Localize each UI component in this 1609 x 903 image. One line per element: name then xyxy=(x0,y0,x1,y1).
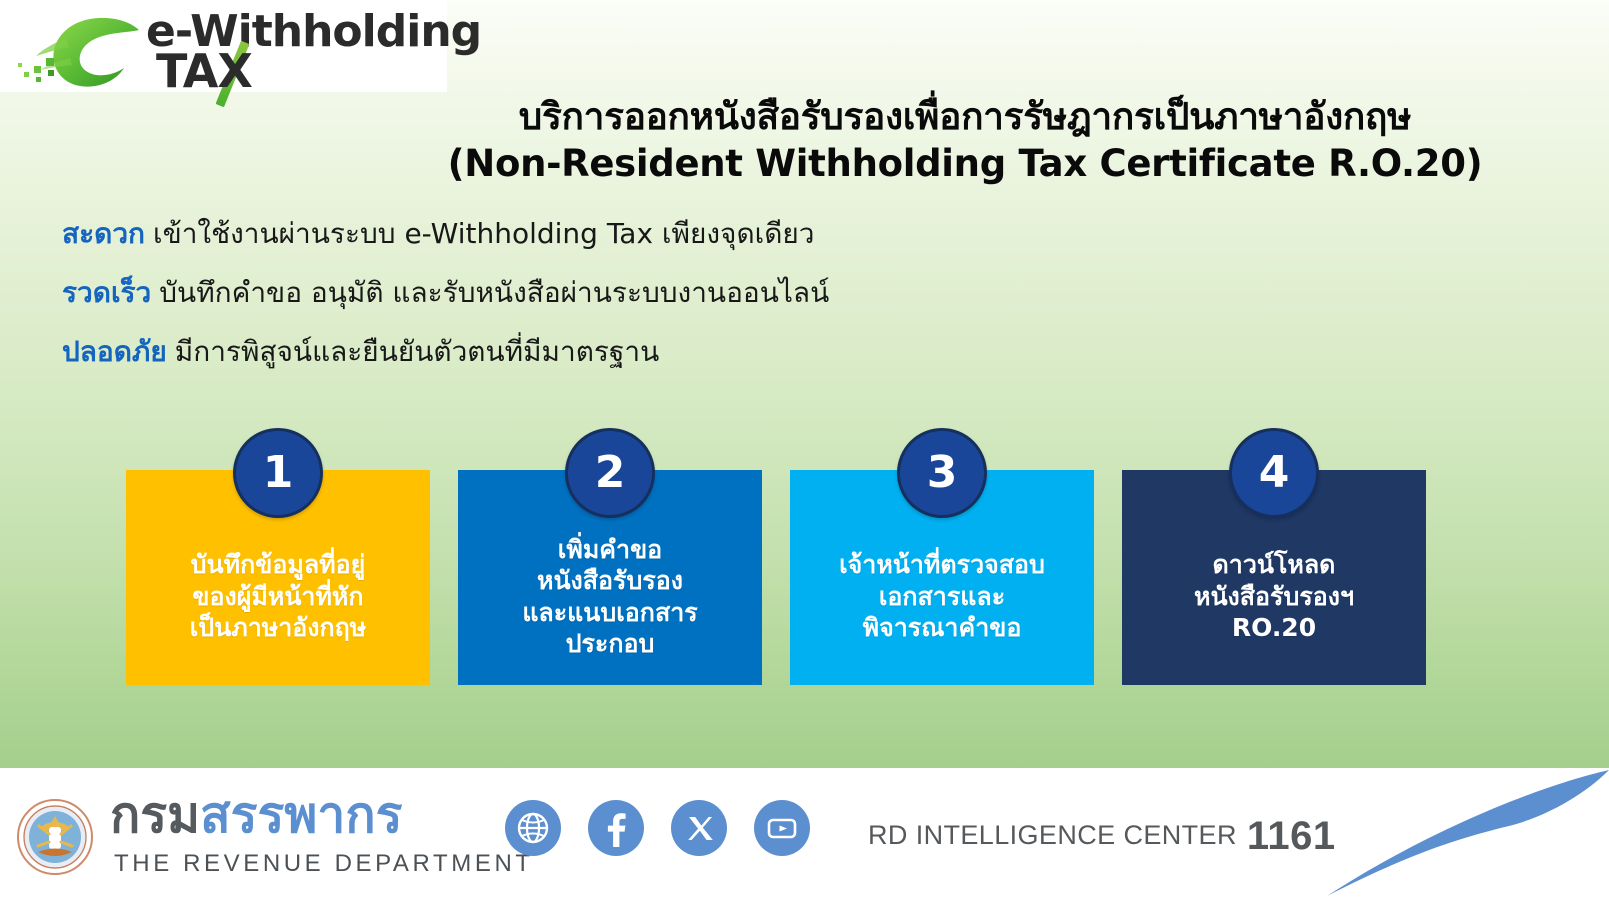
page-title: บริการออกหนังสือรับรองเพื่อการรัษฎากรเป็… xyxy=(330,96,1600,186)
benefit-lead: ปลอดภัย xyxy=(62,335,167,368)
benefit-item: รวดเร็วบันทึกคำขอ อนุมัติ และรับหนังสือผ… xyxy=(62,275,1362,310)
contact-center: RD INTELLIGENCE CENTER1161 xyxy=(868,814,1336,859)
globe-glyph xyxy=(513,808,553,848)
benefit-lead: รวดเร็ว xyxy=(62,276,151,309)
step-number-1: 1 xyxy=(233,428,323,518)
department-name-english: THE REVENUE DEPARTMENT xyxy=(114,850,534,878)
logo-pixel-dots-icon xyxy=(18,56,64,86)
title-thai: บริการออกหนังสือรับรองเพื่อการรัษฎากรเป็… xyxy=(330,96,1600,139)
benefit-text: บันทึกคำขอ อนุมัติ และรับหนังสือผ่านระบบ… xyxy=(159,276,829,309)
step-card-3-label: เจ้าหน้าที่ตรวจสอบ เอกสารและ พิจารณาคำขอ xyxy=(839,549,1045,644)
youtube-icon[interactable] xyxy=(754,800,810,856)
benefit-item: ปลอดภัยมีการพิสูจน์และยืนยันตัวตนที่มีมา… xyxy=(62,334,1362,369)
step-number-3: 3 xyxy=(897,428,987,518)
x-twitter-icon[interactable] xyxy=(671,800,727,856)
title-english: (Non-Resident Withholding Tax Certificat… xyxy=(330,143,1600,186)
benefit-lead: สะดวก xyxy=(62,217,145,250)
facebook-icon[interactable] xyxy=(588,800,644,856)
benefits-list: สะดวกเข้าใช้งานผ่านระบบ e-Withholding Ta… xyxy=(62,216,1362,393)
logo-secondary-text: TAX xyxy=(156,48,252,94)
contact-center-label: RD INTELLIGENCE CENTER xyxy=(868,820,1237,850)
step-card-3: เจ้าหน้าที่ตรวจสอบ เอกสารและ พิจารณาคำขอ… xyxy=(790,470,1094,685)
step-number-2: 2 xyxy=(565,428,655,518)
x-glyph xyxy=(679,808,719,848)
step-card-1: บันทึกข้อมูลที่อยู่ ของผู้มีหน้าที่หัก เ… xyxy=(126,470,430,685)
step-number-4: 4 xyxy=(1229,428,1319,518)
social-links xyxy=(505,800,810,856)
benefit-item: สะดวกเข้าใช้งานผ่านระบบ e-Withholding Ta… xyxy=(62,216,1362,251)
department-name-thai: กรมสรรพากร xyxy=(110,790,403,840)
youtube-glyph xyxy=(762,808,802,848)
facebook-glyph xyxy=(596,808,636,848)
department-name-thai-part2: สรรพากร xyxy=(200,786,402,844)
step-card-2-label: เพิ่มคำขอ หนังสือรับรอง และแนบเอกสาร ประ… xyxy=(522,534,697,660)
process-steps: บันทึกข้อมูลที่อยู่ ของผู้มีหน้าที่หัก เ… xyxy=(0,420,1609,700)
step-card-2: เพิ่มคำขอ หนังสือรับรอง และแนบเอกสาร ประ… xyxy=(458,470,762,685)
step-card-1-label: บันทึกข้อมูลที่อยู่ ของผู้มีหน้าที่หัก เ… xyxy=(190,549,367,644)
infographic-poster: e-Withholding TAX บริการออกหนังสือรับรอง… xyxy=(0,0,1609,903)
benefit-text: เข้าใช้งานผ่านระบบ e-Withholding Tax เพี… xyxy=(153,217,815,250)
decorative-swoosh-icon xyxy=(1309,768,1609,903)
department-name-thai-part1: กรม xyxy=(110,786,200,844)
revenue-department-seal-icon xyxy=(16,798,94,876)
footer-bar: กรมสรรพากร THE REVENUE DEPARTMENT xyxy=(0,768,1609,903)
logo-plate: e-Withholding TAX xyxy=(0,0,447,92)
e-withholding-tax-logo: e-Withholding TAX xyxy=(18,4,448,94)
website-globe-icon[interactable] xyxy=(505,800,561,856)
step-card-4-label: ดาวน์โหลด หนังสือรับรองฯ RO.20 xyxy=(1194,549,1354,644)
step-card-4: ดาวน์โหลด หนังสือรับรองฯ RO.20 4 xyxy=(1122,470,1426,685)
benefit-text: มีการพิสูจน์และยืนยันตัวตนที่มีมาตรฐาน xyxy=(175,335,659,368)
